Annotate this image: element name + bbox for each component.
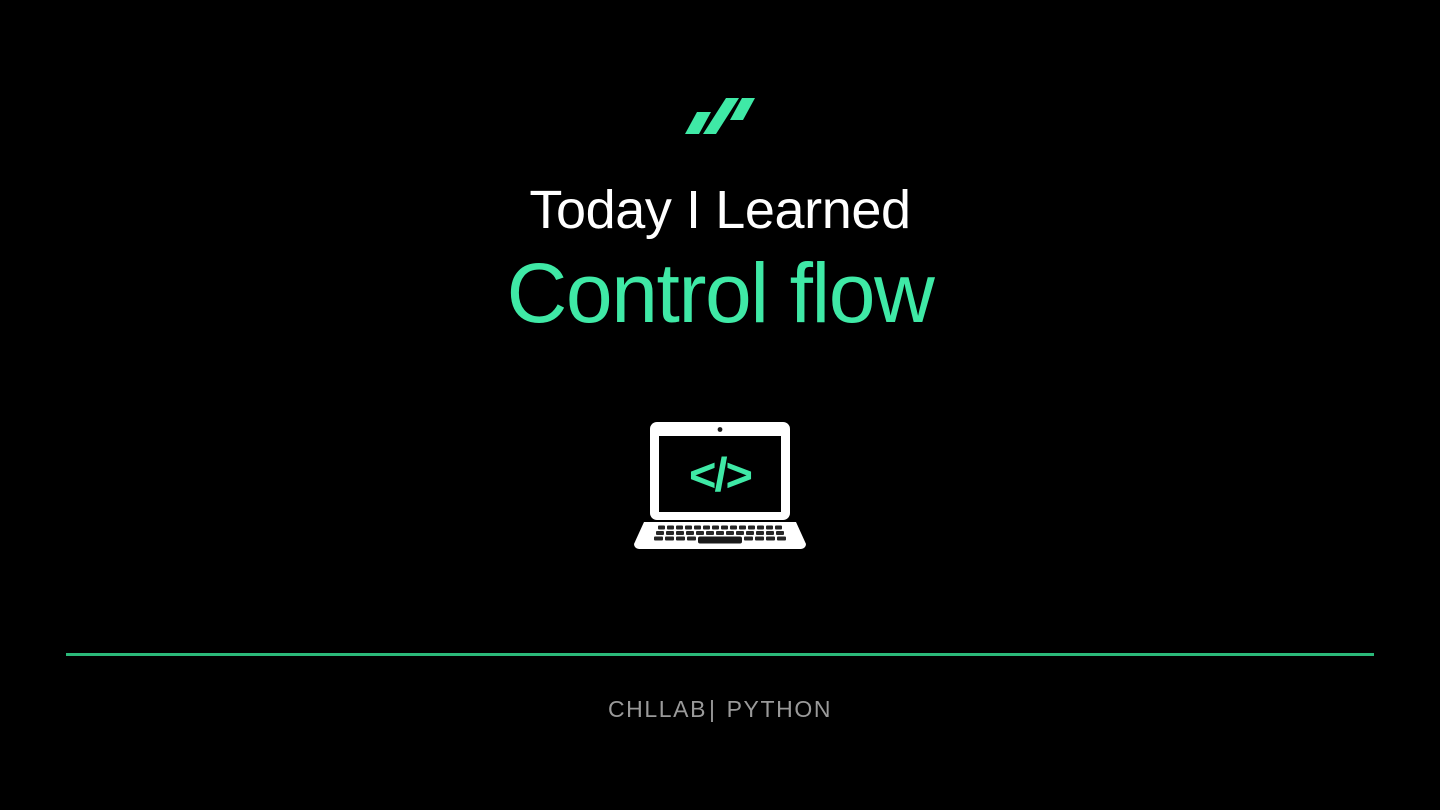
footer-brand: CHLLAB — [608, 696, 707, 722]
code-glyph-text: </> — [689, 448, 752, 501]
footer-separator: | — [707, 696, 719, 722]
brand-logo-icon — [685, 96, 755, 136]
page-title: Control flow — [0, 246, 1440, 340]
divider-line — [66, 653, 1374, 656]
brand-logo — [0, 96, 1440, 136]
heading-block: Today I Learned Control flow — [0, 180, 1440, 341]
footer: CHLLAB| PYTHON — [0, 696, 1440, 723]
trackpad — [698, 537, 742, 544]
laptop-illustration: </> — [0, 420, 1440, 550]
slide-root: Today I Learned Control flow </> — [0, 0, 1440, 810]
footer-topic: PYTHON — [727, 696, 832, 722]
laptop-icon: </> — [632, 420, 808, 550]
eyebrow-text: Today I Learned — [0, 180, 1440, 240]
